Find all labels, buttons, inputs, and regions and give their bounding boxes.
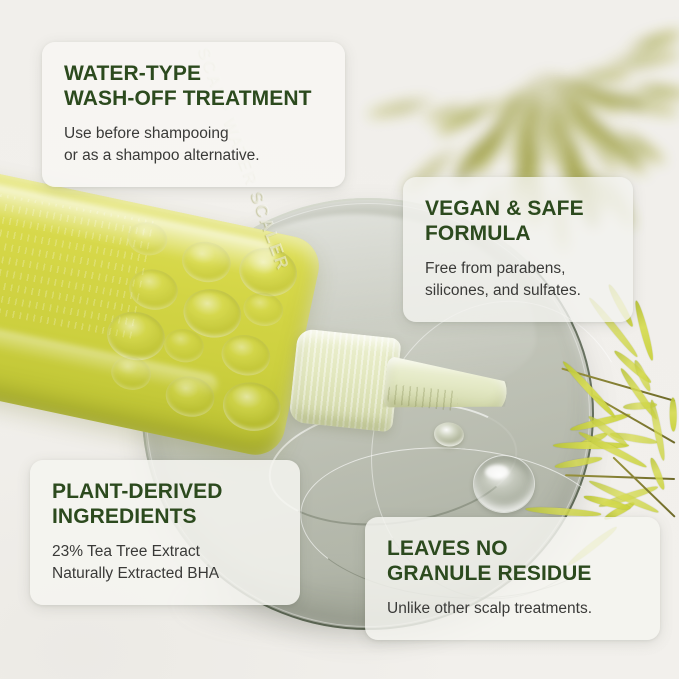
callout-heading: VEGAN & SAFE FORMULA [425, 196, 611, 247]
gel-droplet [473, 455, 535, 513]
callout-card-water-type: WATER-TYPE WASH-OFF TREATMENT Use before… [42, 42, 345, 187]
callout-body: Unlike other scalp treatments. [387, 598, 638, 620]
sprig-needle [669, 397, 677, 431]
callout-card-vegan-safe: VEGAN & SAFE FORMULA Free from parabens,… [403, 177, 633, 322]
callout-heading: PLANT-DERIVED INGREDIENTS [52, 479, 278, 530]
callout-card-plant-derived: PLANT-DERIVED INGREDIENTS 23% Tea Tree E… [30, 460, 300, 605]
callout-heading: LEAVES NO GRANULE RESIDUE [387, 536, 638, 587]
nozzle-collar [288, 328, 401, 432]
foliage-leaf [571, 70, 629, 82]
nozzle-gel-bead [433, 421, 465, 448]
bottle-bump [219, 377, 286, 436]
bottle-bump [218, 331, 274, 380]
bottle-bump [125, 265, 181, 314]
callout-body: Use before shampooing or as a shampoo al… [64, 123, 323, 167]
tea-tree-foliage-blurred [375, 0, 679, 196]
callout-card-no-granule-residue: LEAVES NO GRANULE RESIDUE Unlike other s… [365, 517, 660, 640]
nozzle-applicator [286, 322, 511, 464]
sprig-needle [561, 359, 618, 419]
sprig-needle [554, 455, 602, 470]
callout-body: 23% Tea Tree Extract Naturally Extracted… [52, 541, 278, 585]
callout-body: Free from parabens, silicones, and sulfa… [425, 258, 611, 302]
callout-heading: WATER-TYPE WASH-OFF TREATMENT [64, 61, 323, 112]
